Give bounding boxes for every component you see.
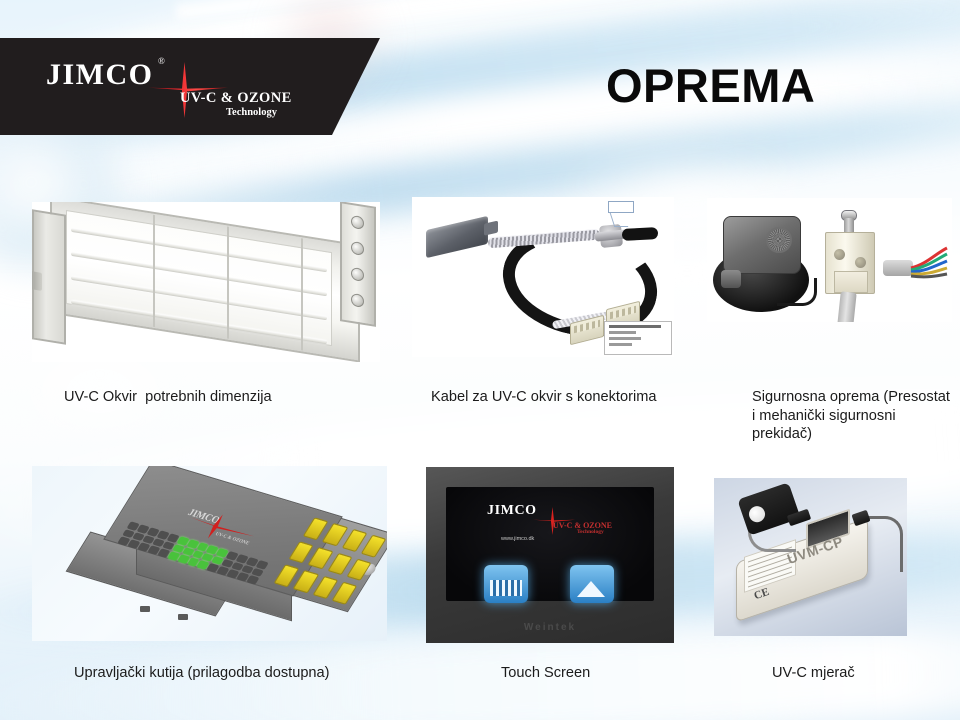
image-uvc-meter: UVM-CP CE: [714, 478, 907, 636]
image-cable: [412, 197, 674, 357]
pressure-switch: [713, 216, 809, 312]
header-banner: JIMCO ® UV-C & OZONE Technology: [0, 38, 380, 135]
cable-spec-label: [604, 321, 672, 355]
switch-wires: [883, 242, 949, 286]
jimco-logo: JIMCO ® UV-C & OZONE Technology: [40, 52, 330, 124]
caption-control-box: Upravljački kutija (prilagodba dostupna): [74, 664, 404, 683]
image-icon[interactable]: [570, 565, 614, 603]
image-safety-equipment: [707, 198, 952, 322]
caption-uvc-frame: UV-C Okvir potrebnih dimenzija: [64, 388, 394, 407]
caption-safety-equipment: Sigurnosna oprema (Presostat i mehanički…: [752, 388, 952, 444]
limit-switch: [825, 210, 875, 306]
image-control-box: JIMCO UV-C & OZONE: [32, 466, 387, 641]
page-title: OPREMA: [606, 62, 815, 109]
touch-screen-panel-brand: Weintek: [524, 622, 576, 633]
chart-icon[interactable]: [484, 565, 528, 603]
caption-cable: Kabel za UV-C okvir s konektorima: [431, 388, 701, 407]
touch-screen-brand: JIMCO: [487, 503, 537, 519]
image-uvc-frame: [32, 202, 380, 362]
touch-screen-display[interactable]: JIMCO UV-C & OZONE Technology www.jimco.…: [446, 487, 654, 601]
caption-touch-screen: Touch Screen: [501, 664, 701, 683]
logo-tagline-primary: UV-C & OZONE: [180, 90, 292, 107]
touch-screen-tagline-secondary: Technology: [577, 529, 604, 535]
touch-screen-logo: JIMCO UV-C & OZONE Technology www.jimco.…: [485, 503, 615, 543]
logo-wordmark: JIMCO: [46, 58, 154, 92]
caption-uvc-meter: UV-C mjerač: [772, 664, 952, 683]
logo-tagline-secondary: Technology: [226, 107, 277, 118]
touch-screen-url: www.jimco.dk: [501, 536, 534, 542]
image-touch-screen: JIMCO UV-C & OZONE Technology www.jimco.…: [426, 467, 674, 643]
